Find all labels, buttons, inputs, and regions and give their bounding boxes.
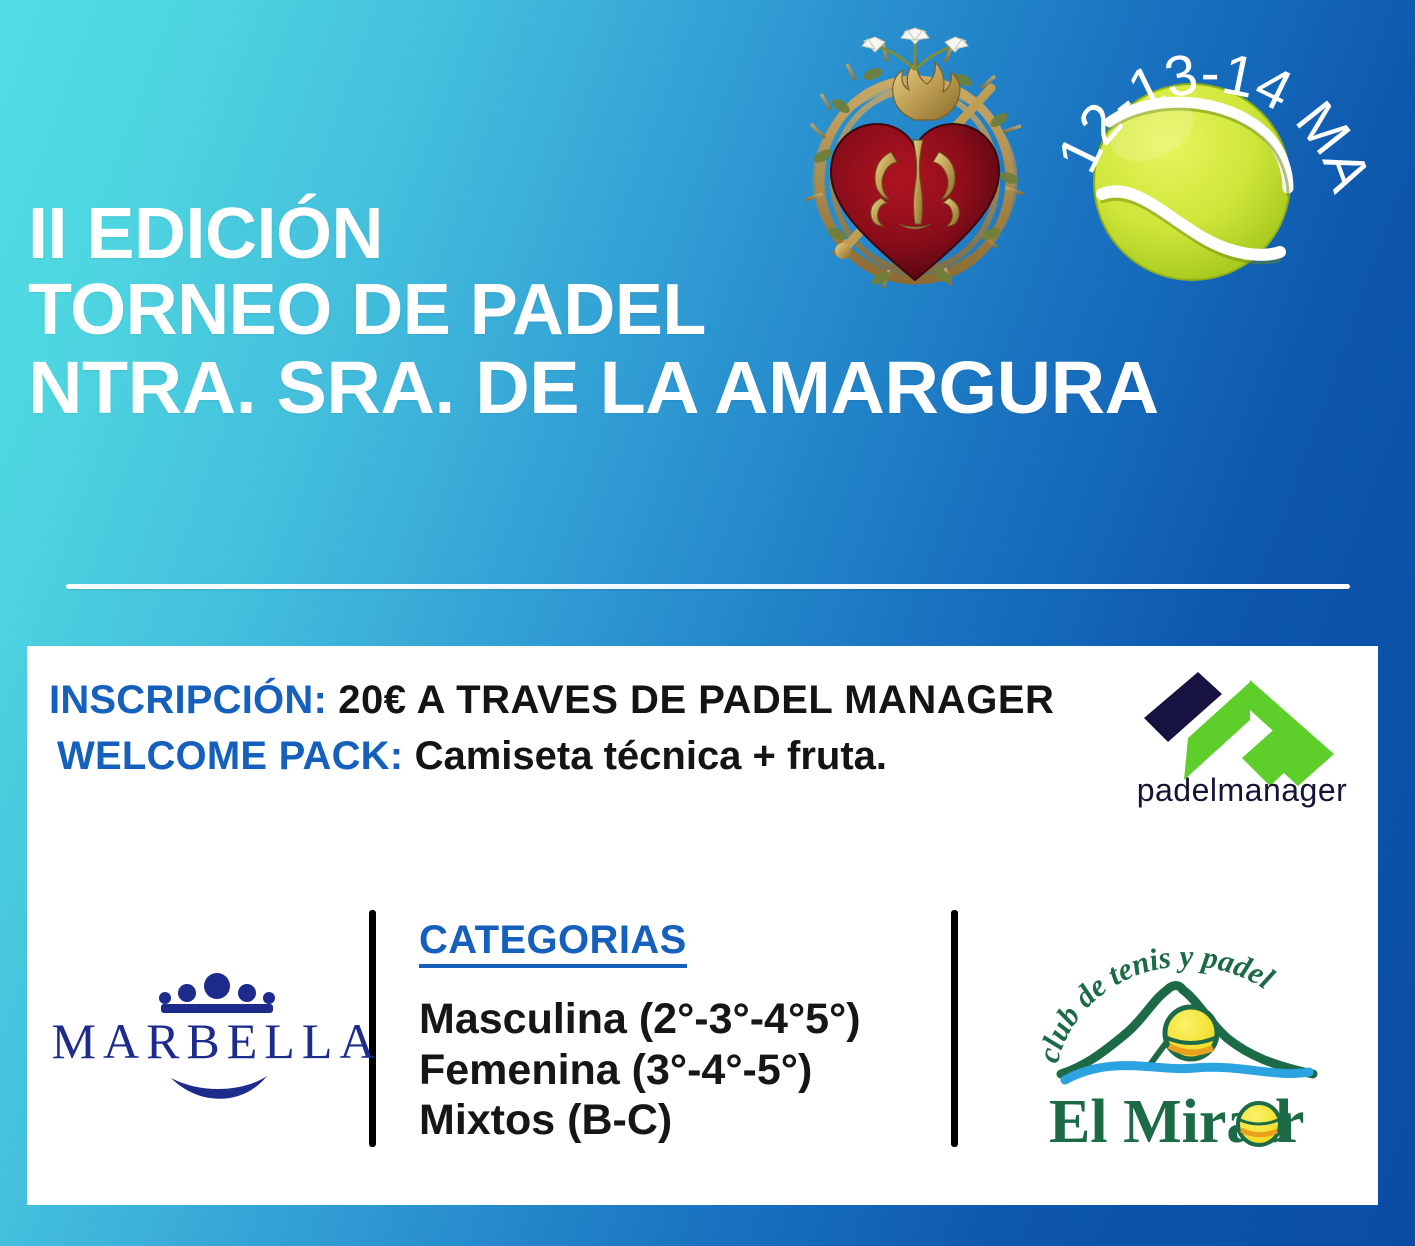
registration-label: INSCRIPCIÓN: xyxy=(49,678,338,722)
categories-divider-right xyxy=(951,910,958,1147)
registration-row: INSCRIPCIÓN: 20€ A TRAVES DE PADEL MANAG… xyxy=(49,678,1054,723)
marbella-logo: MARBELLA xyxy=(67,966,367,1106)
category-item-mixtos: Mixtos (B-C) xyxy=(419,1095,939,1146)
welcome-pack-label: WELCOME PACK: xyxy=(57,734,415,778)
tournament-poster: 12-13-14 MAYO II EDICIÓN TORNEO DE PADEL… xyxy=(0,0,1415,1246)
categories-block: CATEGORIAS Masculina (2°-3°-4°5°) Femeni… xyxy=(419,918,939,1146)
registration-value: 20€ A TRAVES DE PADEL MANAGER xyxy=(338,678,1054,722)
categories-list: Masculina (2°-3°-4°5°) Femenina (3°-4°-5… xyxy=(419,994,939,1146)
welcome-pack-row: WELCOME PACK: Camiseta técnica + fruta. xyxy=(57,734,887,779)
el-mirador-logo: club de tenis y padel El Mirad xyxy=(1027,938,1347,1160)
welcome-pack-value: Camiseta técnica + fruta. xyxy=(415,734,887,778)
title-line-2: TORNEO DE PADEL xyxy=(28,272,1388,348)
header-divider xyxy=(66,584,1350,589)
water-wave-icon xyxy=(1065,1066,1309,1080)
racket-and-ball-icon xyxy=(1149,1007,1217,1066)
marbella-wordmark-text: MARBELLA xyxy=(52,1013,383,1069)
title-line-1: II EDICIÓN xyxy=(28,196,1388,272)
title-line-3: NTRA. SRA. DE LA AMARGURA xyxy=(28,349,1415,427)
marbella-swoosh-icon xyxy=(171,1076,267,1099)
marbella-crown-icon xyxy=(159,973,275,1013)
page-title: II EDICIÓN TORNEO DE PADEL NTRA. SRA. DE… xyxy=(28,196,1388,427)
category-item-masculina: Masculina (2°-3°-4°5°) xyxy=(419,994,939,1045)
mirador-wordmark-tail: r xyxy=(1277,1088,1305,1156)
categories-title: CATEGORIAS xyxy=(419,918,687,968)
padelmanager-mark xyxy=(1144,658,1334,786)
info-card: INSCRIPCIÓN: 20€ A TRAVES DE PADEL MANAG… xyxy=(27,646,1378,1205)
padelmanager-wordmark: padelmanager xyxy=(1124,772,1360,809)
category-item-femenina: Femenina (3°-4°-5°) xyxy=(419,1045,939,1096)
